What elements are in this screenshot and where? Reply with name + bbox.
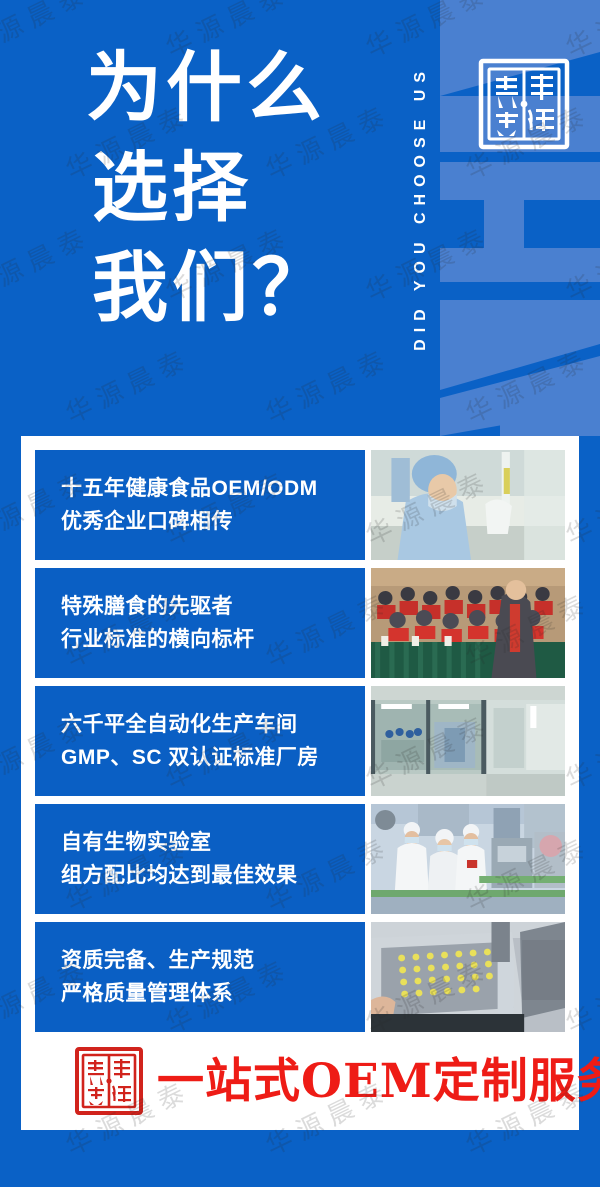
feature-card-text: 十五年健康食品OEM/ODM 优秀企业口碑相传 xyxy=(35,450,365,560)
feature-card-text: 特殊膳食的先驱者 行业标准的横向标杆 xyxy=(35,568,365,678)
feature-card[interactable]: 自有生物实验室 组方配比均达到最佳效果 xyxy=(35,804,565,914)
feature-line-2: 行业标准的横向标杆 xyxy=(61,623,365,656)
features-panel: 十五年健康食品OEM/ODM 优秀企业口碑相传 xyxy=(21,436,579,1130)
feature-line-1: 十五年健康食品OEM/ODM xyxy=(61,472,365,505)
feature-photo-lab-sample xyxy=(371,450,565,560)
vertical-caption-text: DID YOU CHOOSE US xyxy=(412,65,430,351)
feature-card-text: 六千平全自动化生产车间 GMP、SC 双认证标准厂房 xyxy=(35,686,365,796)
feature-photo-cleanroom xyxy=(371,686,565,796)
page-title: 为什么 选择 我们？ xyxy=(86,38,386,338)
feature-line-2: GMP、SC 双认证标准厂房 xyxy=(61,741,365,774)
feature-line-1: 六千平全自动化生产车间 xyxy=(61,708,365,741)
feature-photo-tablet-press xyxy=(371,922,565,1032)
feature-line-2: 组方配比均达到最佳效果 xyxy=(61,859,365,892)
company-seal-icon xyxy=(474,54,574,154)
feature-card-text: 资质完备、生产规范 严格质量管理体系 xyxy=(35,922,365,1032)
feature-card-text: 自有生物实验室 组方配比均达到最佳效果 xyxy=(35,804,365,914)
feature-photo-technicians xyxy=(371,804,565,914)
feature-photo-conference xyxy=(371,568,565,678)
title-line-3: 我们？ xyxy=(86,238,386,338)
feature-card[interactable]: 十五年健康食品OEM/ODM 优秀企业口碑相传 xyxy=(35,450,565,560)
features-list: 十五年健康食品OEM/ODM 优秀企业口碑相传 xyxy=(35,450,565,1032)
header: 为什么 选择 我们？ DID YOU CHOOSE US xyxy=(0,0,600,436)
vertical-caption: DID YOU CHOOSE US xyxy=(404,12,438,404)
feature-line-1: 特殊膳食的先驱者 xyxy=(61,590,365,623)
feature-card[interactable]: 六千平全自动化生产车间 GMP、SC 双认证标准厂房 xyxy=(35,686,565,796)
feature-line-2: 严格质量管理体系 xyxy=(61,977,365,1010)
feature-line-1: 资质完备、生产规范 xyxy=(61,944,365,977)
cta-banner[interactable]: 一站式OEM定制服务 xyxy=(35,1040,565,1122)
company-seal-red-icon xyxy=(73,1045,145,1117)
feature-card[interactable]: 资质完备、生产规范 严格质量管理体系 xyxy=(35,922,565,1032)
cta-banner-text: 一站式OEM定制服务 xyxy=(157,1058,600,1105)
title-line-2: 选择 xyxy=(86,138,386,238)
feature-line-1: 自有生物实验室 xyxy=(61,826,365,859)
title-line-1: 为什么 xyxy=(86,38,386,138)
feature-line-2: 优秀企业口碑相传 xyxy=(61,505,365,538)
poster-root: 为什么 选择 我们？ DID YOU CHOOSE US xyxy=(0,0,600,1187)
feature-card[interactable]: 特殊膳食的先驱者 行业标准的横向标杆 xyxy=(35,568,565,678)
